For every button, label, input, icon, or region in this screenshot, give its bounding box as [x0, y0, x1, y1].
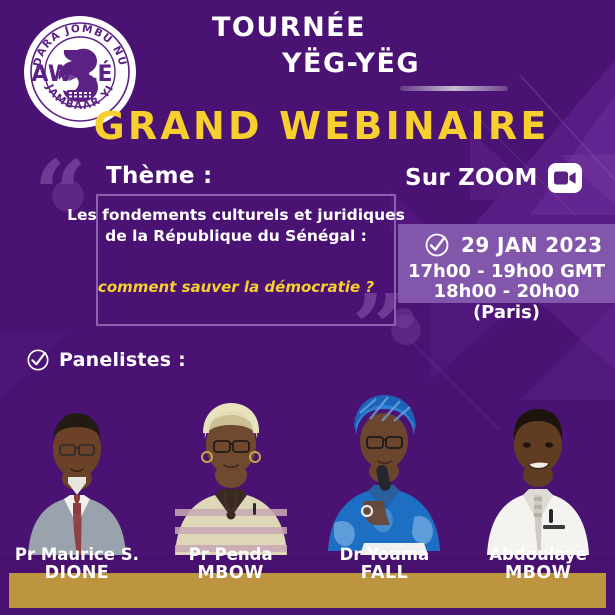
platform-label: Sur ZOOM: [405, 165, 538, 191]
panelist-photo-4: [461, 380, 615, 555]
page-title: GRAND WEBINAIRE: [0, 104, 615, 148]
check-circle-icon: [26, 348, 50, 372]
panelist-photo-3: [308, 380, 462, 555]
panelist-first-name: Abdoulaye: [461, 546, 615, 564]
theme-question: comment sauver la démocratie ?: [60, 278, 412, 296]
panelist-last-name: MBOW: [154, 564, 308, 584]
panelist-photo-2: [154, 380, 308, 555]
panelist-name-3: Dr Youma FALL: [308, 546, 462, 584]
event-time-paris: 18h00 - 20h00 (Paris): [398, 281, 615, 323]
panelist-name-row: Pr Maurice S. DIONE Pr Penda MBOW Dr You…: [0, 546, 615, 584]
panelist-last-name: MBOW: [461, 564, 615, 584]
panelist-last-name: DIONE: [0, 564, 154, 584]
panelist-name-2: Pr Penda MBOW: [154, 546, 308, 584]
event-date: 29 JAN 2023: [461, 233, 602, 257]
event-time-gmt: 17h00 - 19h00 GMT: [398, 261, 615, 282]
platform-row: Sur ZOOM: [405, 163, 582, 193]
heading-underline: [400, 86, 508, 91]
panelists-label: Panelistes :: [59, 349, 186, 371]
panelist-photo-row: [0, 380, 615, 555]
panelist-first-name: Pr Penda: [154, 546, 308, 564]
svg-text:AWLÉ: AWLÉ: [31, 61, 113, 87]
panelist-photo-1: [0, 380, 154, 555]
panelist-name-4: Abdoulaye MBOW: [461, 546, 615, 584]
theme-label: Thème :: [106, 163, 213, 189]
panelist-name-1: Pr Maurice S. DIONE: [0, 546, 154, 584]
tour-heading: TOURNÉE YËG-YËG: [200, 10, 600, 81]
webinar-poster: DARA JOMBU NU JAMBAAR YI AWLÉ: [0, 0, 615, 615]
video-camera-icon: [548, 163, 582, 193]
panelist-last-name: FALL: [308, 564, 462, 584]
panelist-first-name: Pr Maurice S.: [0, 546, 154, 564]
date-row: 29 JAN 2023: [424, 232, 602, 258]
tour-heading-line1: TOURNÉE: [200, 10, 600, 46]
theme-body: Les fondements culturels et juridiques d…: [60, 205, 412, 248]
tour-heading-line2: YËG-YËG: [200, 46, 600, 82]
panelists-heading: Panelistes :: [26, 348, 186, 372]
panelist-first-name: Dr Youma: [308, 546, 462, 564]
check-circle-icon: [424, 232, 450, 258]
